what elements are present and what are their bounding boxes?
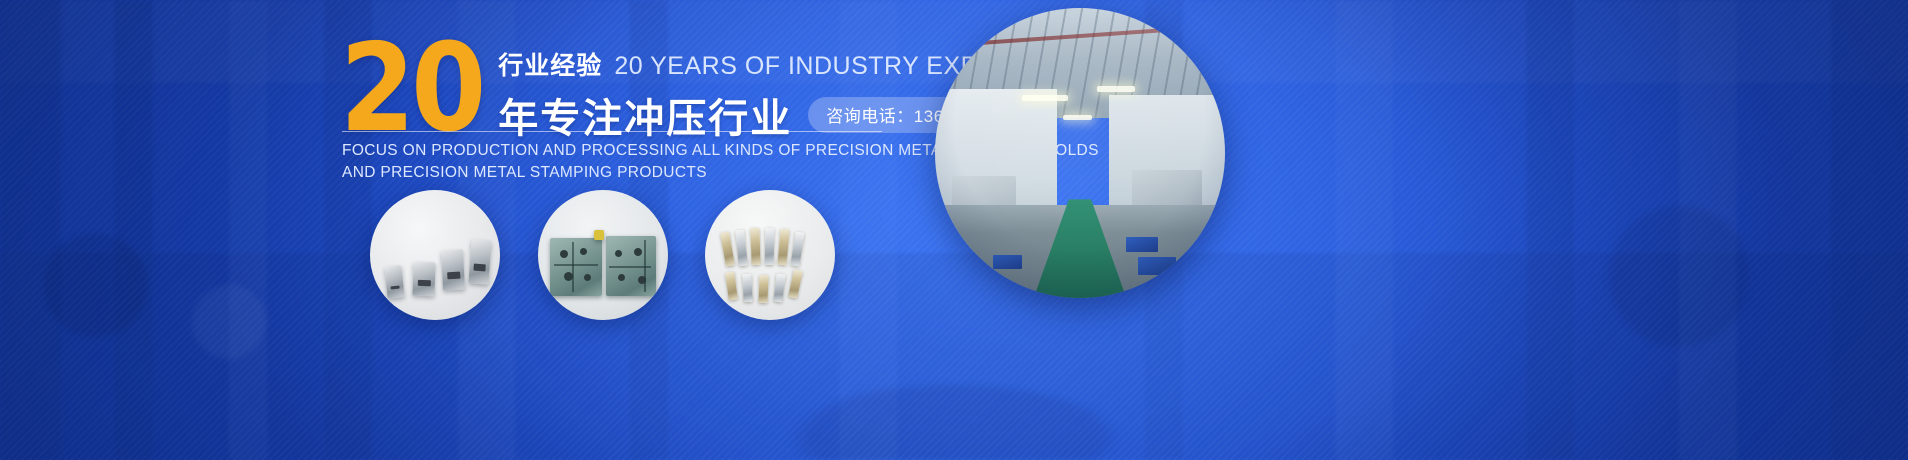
subtext-line-1: FOCUS ON PRODUCTION AND PROCESSING ALL K… [342, 140, 942, 162]
terminal-pin [750, 228, 760, 265]
subtext-line-2: AND PRECISION METAL STAMPING PRODUCTS [342, 162, 942, 184]
banner-content: 20 行业经验 20 YEARS OF INDUSTRY EXPERIENCE … [0, 0, 1908, 460]
factory-photo-circle [935, 8, 1225, 298]
headline-divider [342, 131, 882, 132]
mold-block-left [550, 238, 602, 296]
mold-marker [594, 230, 604, 240]
years-number: 20 [340, 38, 482, 142]
connector-part [412, 262, 435, 297]
terminal-pin [759, 275, 769, 303]
subtext-block: FOCUS ON PRODUCTION AND PROCESSING ALL K… [342, 140, 942, 184]
connector-part [384, 265, 404, 299]
headline-cn-big: 年专注冲压行业 [498, 86, 792, 144]
mold-block-right [606, 236, 656, 296]
factory-photo [935, 8, 1225, 298]
terminal-pin [765, 228, 775, 265]
headline-cn-small: 行业经验 [498, 46, 602, 82]
connector-part [441, 249, 465, 290]
product-circle-connectors [370, 190, 500, 320]
terminal-pin [742, 274, 752, 302]
factory-photo-shade [935, 8, 1225, 298]
product-circle-mold [538, 190, 668, 320]
product-circle-pins [705, 190, 835, 320]
promo-banner: 20 行业经验 20 YEARS OF INDUSTRY EXPERIENCE … [0, 0, 1908, 460]
connector-part [468, 239, 491, 284]
